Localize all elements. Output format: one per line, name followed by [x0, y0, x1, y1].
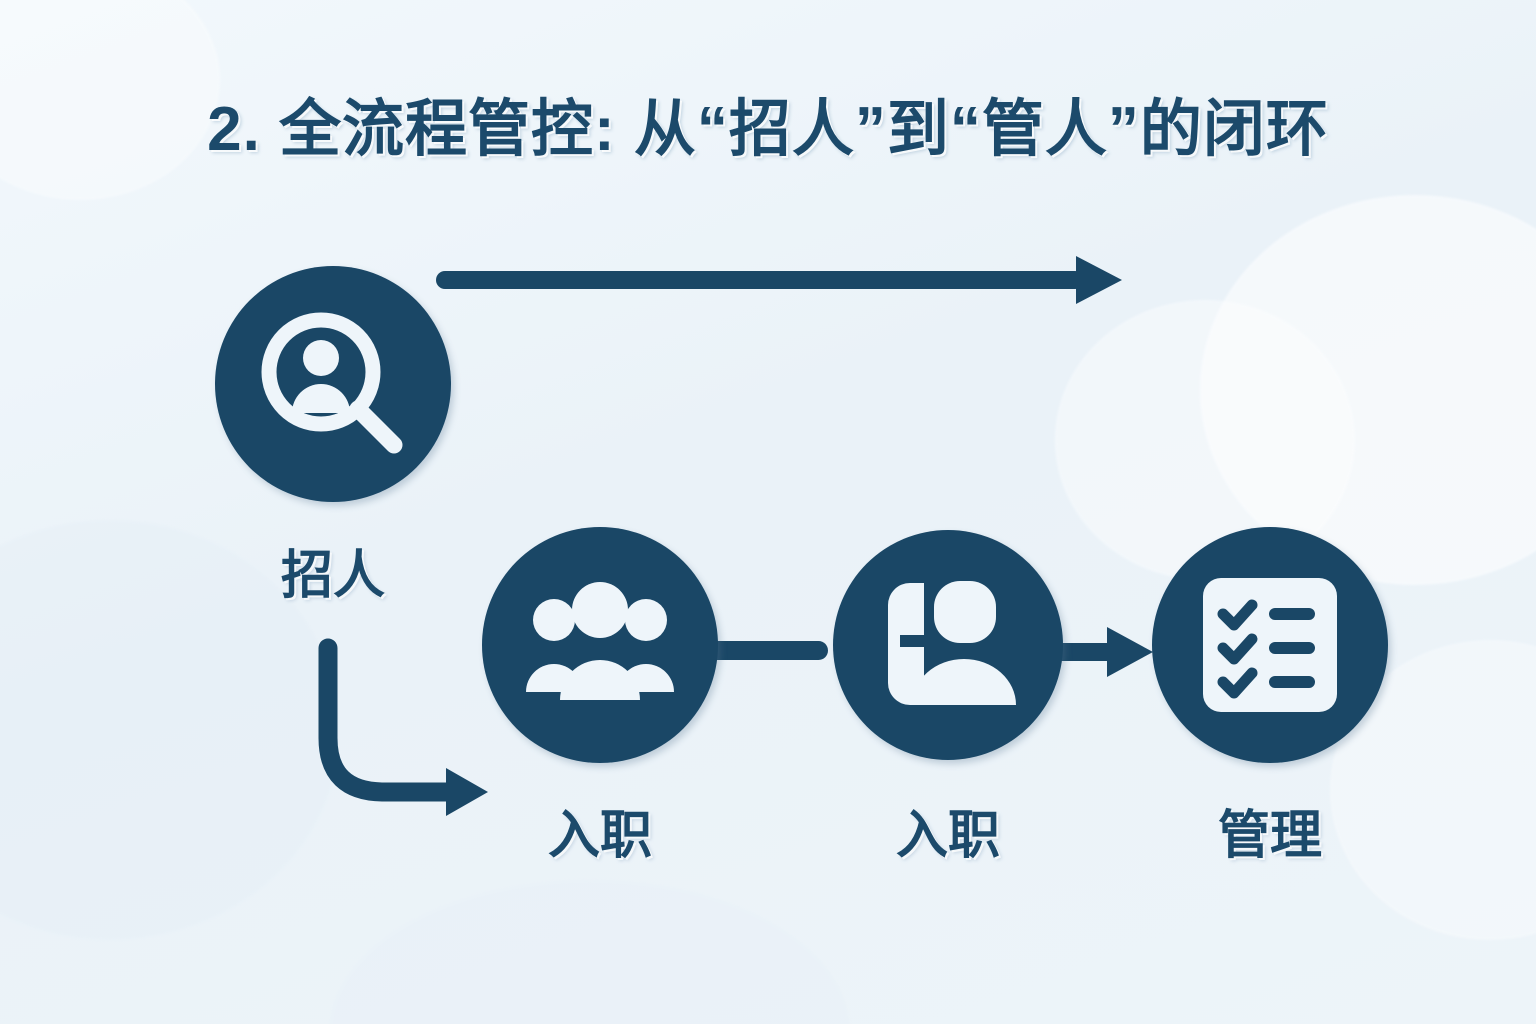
flow-node-label: 入职 — [833, 793, 1063, 868]
background-blob-icon — [1200, 195, 1536, 585]
flow-node-label: 招人 — [215, 533, 451, 608]
flow-node-label: 管理 — [1152, 793, 1388, 868]
flow-node-circle[interactable] — [215, 266, 451, 502]
person-badge-icon — [878, 575, 1018, 715]
person-search-icon — [258, 309, 408, 459]
long-right-arrow-icon — [430, 248, 1130, 318]
flow-node-circle[interactable] — [482, 527, 718, 763]
background-blob-icon — [330, 880, 850, 1024]
people-group-icon — [524, 580, 676, 710]
slide-canvas: 2. 全流程管控: 从“招人”到“管人”的闭环 — [0, 0, 1536, 1024]
horizontal-bar-connector-icon — [700, 620, 850, 680]
checklist-icon — [1197, 572, 1343, 718]
flow-node-circle[interactable] — [1152, 527, 1388, 763]
flow-node-circle[interactable] — [833, 530, 1063, 760]
page-title: 2. 全流程管控: 从“招人”到“管人”的闭环 — [0, 78, 1536, 168]
flow-node-label: 入职 — [482, 793, 718, 868]
